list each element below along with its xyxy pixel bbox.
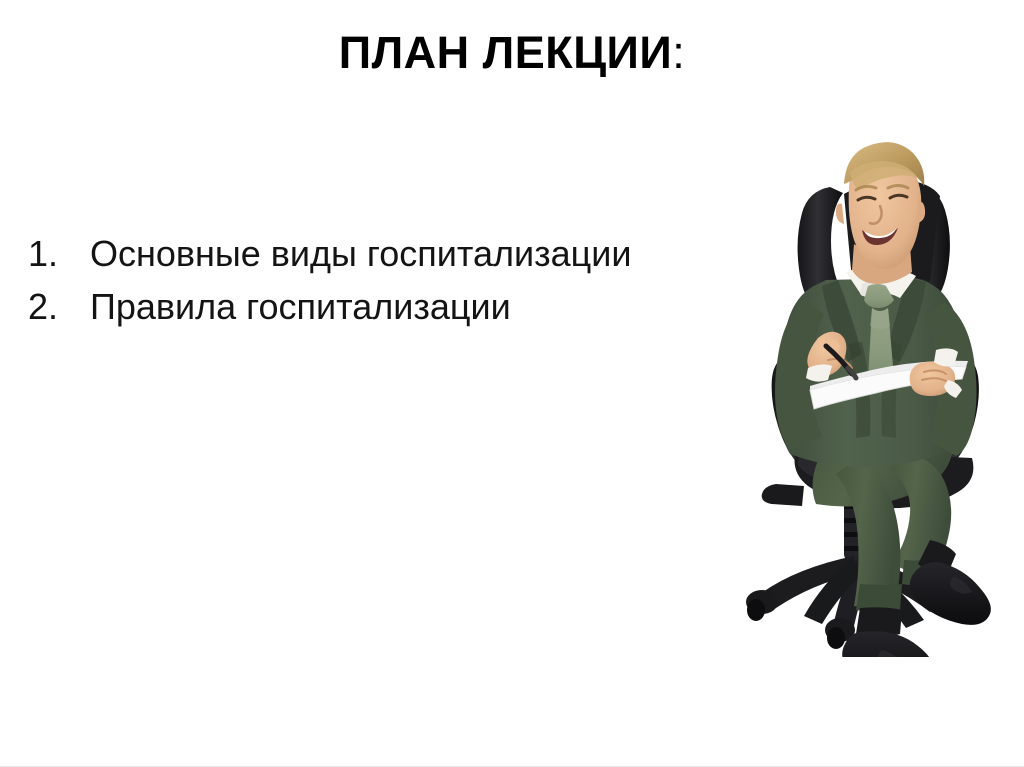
list-item-label: Основные виды госпитализации — [90, 232, 668, 277]
page-title-colon: : — [672, 27, 685, 78]
list-item: 1. Основные виды госпитализации — [28, 232, 668, 277]
list-item-label: Правила госпитализации — [90, 285, 668, 330]
businessman-in-office-chair-photo — [722, 132, 1024, 657]
page-title-text: ПЛАН ЛЕКЦИИ — [339, 27, 673, 78]
lecture-plan-list: 1. Основные виды госпитализации 2. Прави… — [28, 232, 668, 337]
list-item-marker: 1. — [28, 232, 90, 277]
list-item: 2. Правила госпитализации — [28, 285, 668, 330]
presentation-slide: ПЛАН ЛЕКЦИИ: 1. Основные виды госпитализ… — [0, 0, 1024, 767]
list-item-marker: 2. — [28, 285, 90, 330]
page-title: ПЛАН ЛЕКЦИИ: — [0, 26, 1024, 80]
